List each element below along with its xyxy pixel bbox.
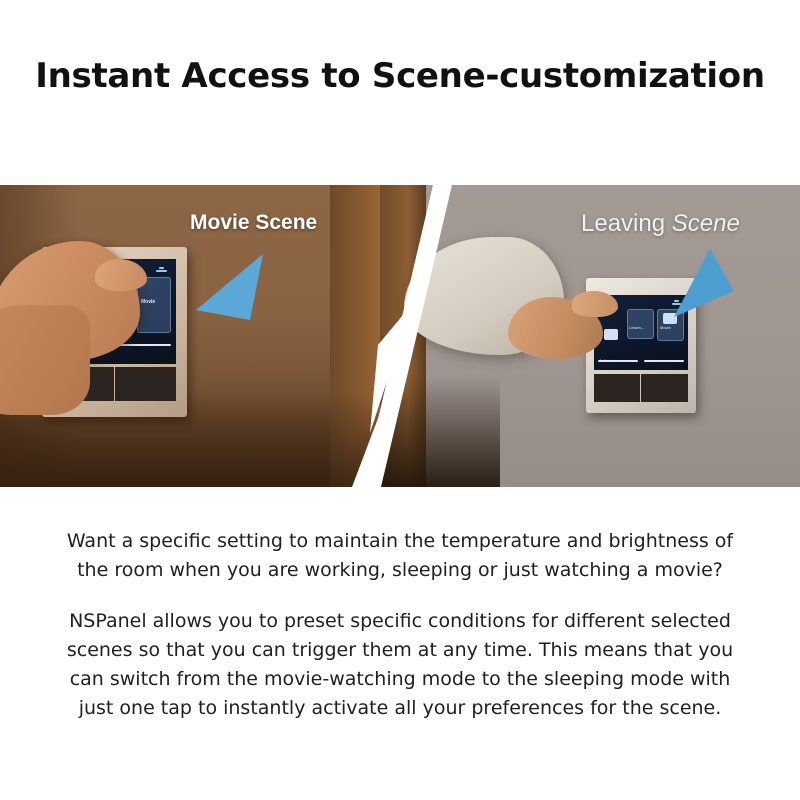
left-forearm bbox=[0, 305, 90, 415]
right-slider-bar-1[interactable] bbox=[598, 360, 638, 362]
body-paragraph-2: NSPanel allows you to preset specific co… bbox=[60, 607, 740, 723]
right-scene-label-part2: Scene bbox=[672, 210, 740, 237]
body-paragraph-1: Want a specific setting to maintain the … bbox=[60, 527, 740, 585]
right-dark-corner bbox=[380, 377, 500, 487]
left-scene-label: Movie Scene bbox=[190, 211, 317, 235]
left-physical-button-2[interactable] bbox=[115, 367, 176, 401]
left-blue-triangle-arrow-icon bbox=[188, 248, 270, 326]
right-scene-label: Leaving Scene bbox=[581, 210, 740, 238]
page-title: Instant Access to Scene-customization bbox=[0, 58, 800, 95]
hero-photo-band: Activi... Leavin... Movie bbox=[0, 185, 800, 487]
right-slider-bar-2[interactable] bbox=[644, 360, 684, 362]
right-tile-2-active[interactable] bbox=[627, 309, 654, 339]
right-physical-button-1[interactable] bbox=[594, 374, 640, 402]
right-finger-tip bbox=[572, 291, 618, 317]
right-scene-label-part1: Leaving bbox=[581, 210, 672, 237]
right-blue-triangle-arrow-icon bbox=[660, 247, 740, 327]
left-slider-bar-2[interactable] bbox=[117, 344, 171, 346]
right-tile-1-icon bbox=[604, 329, 618, 340]
right-physical-button-2[interactable] bbox=[641, 374, 688, 402]
left-tile-3-label: Movie bbox=[141, 299, 155, 305]
wifi-icon bbox=[156, 266, 167, 273]
right-tile-2-label: Leavin... bbox=[629, 325, 644, 330]
